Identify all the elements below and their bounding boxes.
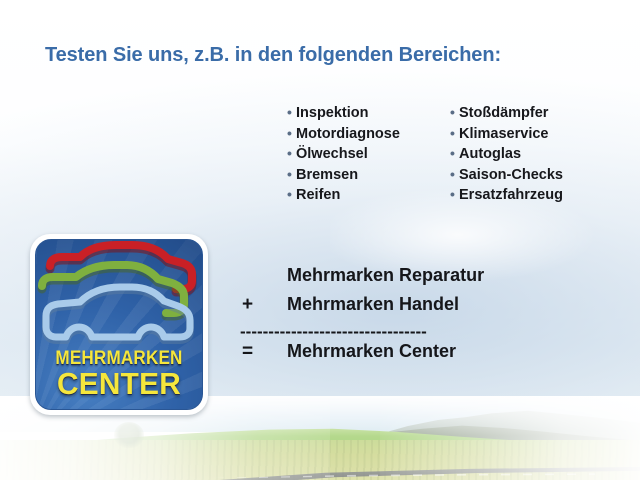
- equation-divider: ---------------------------------: [240, 322, 600, 340]
- equation-row-handel: + Mehrmarken Handel: [240, 294, 600, 323]
- logo-wordmark-bottom: CENTER: [39, 366, 198, 402]
- bullet-icon: •: [287, 185, 296, 205]
- bullet-icon: •: [287, 103, 296, 123]
- service-label: Saison-Checks: [459, 167, 563, 183]
- list-item: •Saison-Checks: [450, 165, 563, 186]
- services-left-column: •Inspektion •Motordiagnose •Ölwechsel •B…: [287, 103, 400, 206]
- list-item: •Ersatzfahrzeug: [450, 185, 563, 206]
- list-item: •Inspektion: [287, 103, 400, 124]
- bullet-icon: •: [287, 165, 296, 185]
- service-label: Klimaservice: [459, 126, 548, 142]
- list-item: •Bremsen: [287, 165, 400, 186]
- list-item: •Ölwechsel: [287, 144, 400, 165]
- service-label: Motordiagnose: [296, 126, 400, 142]
- bullet-icon: •: [287, 124, 296, 144]
- service-label: Inspektion: [296, 105, 369, 121]
- equation-operator-plus: +: [242, 294, 253, 316]
- list-item: •Reifen: [287, 185, 400, 206]
- service-label: Stoßdämpfer: [459, 105, 548, 121]
- services-right-column: •Stoßdämpfer •Klimaservice •Autoglas •Sa…: [450, 103, 563, 206]
- list-item: •Autoglas: [450, 144, 563, 165]
- list-item: •Motordiagnose: [287, 124, 400, 145]
- bullet-icon: •: [450, 165, 459, 185]
- bullet-icon: •: [450, 124, 459, 144]
- mehrmarken-center-logo[interactable]: MEHRMARKEN CENTER: [30, 234, 208, 415]
- brand-equation: Mehrmarken Reparatur + Mehrmarken Handel…: [240, 265, 600, 370]
- logo-panel: MEHRMARKEN CENTER: [35, 239, 203, 410]
- bullet-icon: •: [450, 185, 459, 205]
- equation-operator-equals: =: [242, 341, 253, 363]
- list-item: •Stoßdämpfer: [450, 103, 563, 124]
- service-label: Ersatzfahrzeug: [459, 187, 563, 203]
- landscape-fade-right: [380, 396, 640, 480]
- bullet-icon: •: [287, 144, 296, 164]
- service-label: Bremsen: [296, 167, 358, 183]
- equation-result-term: Mehrmarken Center: [287, 341, 456, 362]
- car-silhouettes-group: [36, 240, 202, 352]
- page-title: Testen Sie uns, z.B. in den folgenden Be…: [45, 44, 501, 67]
- list-item: •Klimaservice: [450, 124, 563, 145]
- equation-row-result: = Mehrmarken Center: [240, 341, 600, 370]
- service-label: Ölwechsel: [296, 146, 368, 162]
- service-label: Reifen: [296, 187, 340, 203]
- equation-row-reparatur: Mehrmarken Reparatur: [240, 265, 600, 294]
- bullet-icon: •: [450, 103, 459, 123]
- service-label: Autoglas: [459, 146, 521, 162]
- bullet-icon: •: [450, 144, 459, 164]
- equation-term: Mehrmarken Reparatur: [287, 265, 484, 286]
- equation-term: Mehrmarken Handel: [287, 294, 459, 315]
